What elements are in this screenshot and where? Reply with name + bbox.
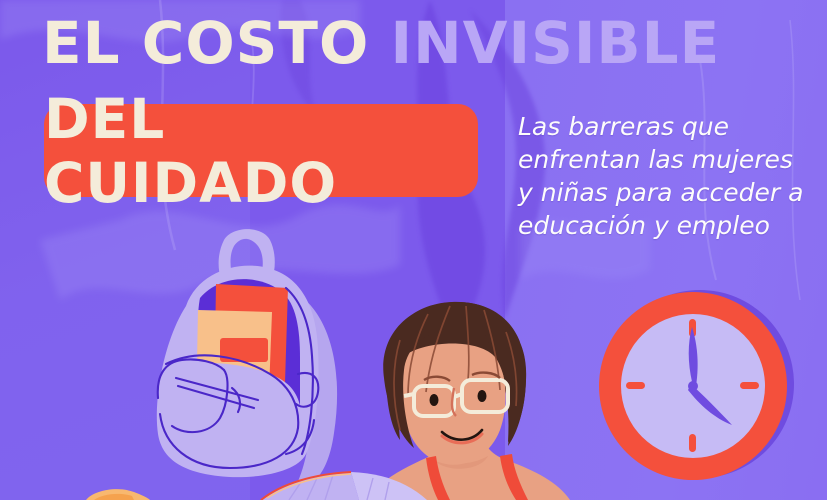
poster-canvas: EL COSTO INVISIBLE DEL CUIDADO Las barre…	[0, 0, 827, 500]
orange-book-corner-illustration	[60, 470, 180, 500]
clock-tick-3	[740, 382, 759, 389]
clock-illustration	[588, 278, 803, 493]
subtitle-line-4: educación y empleo	[518, 209, 818, 242]
headline-badge: DEL CUIDADO	[44, 104, 478, 197]
subtitle-line-2: enfrentan las mujeres	[518, 143, 818, 176]
headline-badge-text: DEL CUIDADO	[44, 104, 478, 197]
headline-primary-text: EL COSTO	[42, 9, 390, 77]
subtitle-line-3: y niñas para acceder a	[518, 176, 818, 209]
clock-center-pin	[688, 381, 698, 391]
subtitle-block: Las barreras que enfrentan las mujeres y…	[518, 110, 818, 242]
headline-line-1: EL COSTO INVISIBLE	[42, 14, 720, 72]
left-eye	[430, 394, 439, 406]
headline-secondary-text: INVISIBLE	[390, 9, 720, 77]
right-eye	[478, 390, 487, 402]
clock-tick-6	[689, 434, 696, 452]
clock-tick-9	[626, 382, 645, 389]
open-notebook-illustration	[255, 462, 445, 500]
subtitle-line-1: Las barreras que	[518, 110, 818, 143]
